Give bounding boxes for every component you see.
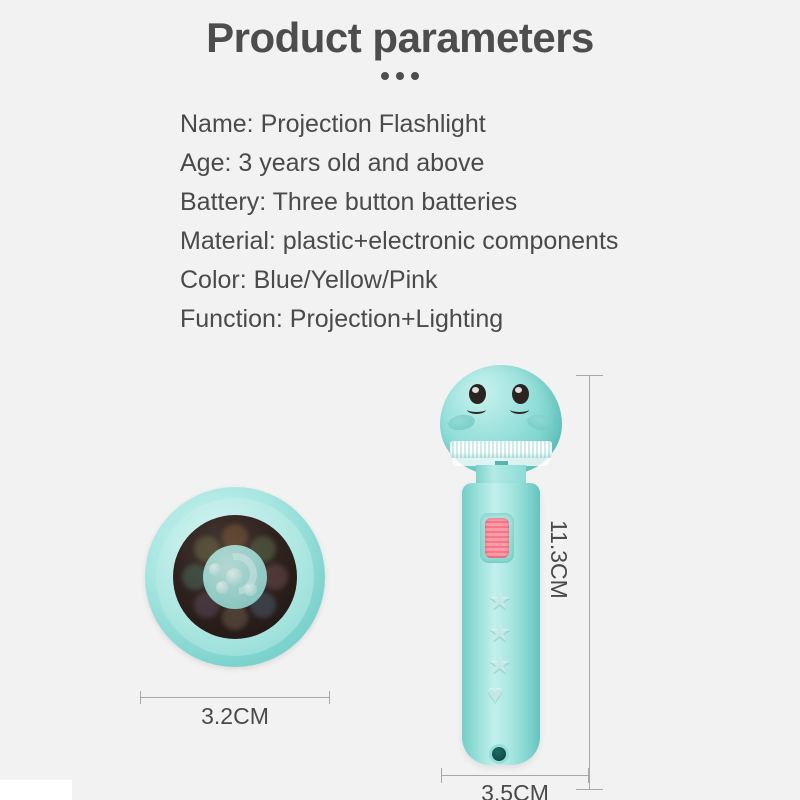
- disc-width-label: 3.2CM: [140, 703, 330, 730]
- eye-left-icon: [469, 384, 486, 404]
- eyelash-right-icon: [510, 405, 529, 414]
- dimension-cap: [576, 375, 603, 376]
- eyelash-left-icon: [467, 405, 486, 414]
- spec-item-function: Function: Projection+Lighting: [180, 300, 740, 339]
- hub-bump: [226, 568, 243, 585]
- product-parameters-page: Product parameters Name: Projection Flas…: [0, 0, 800, 800]
- title-dots-decoration: [0, 72, 800, 80]
- decoration-dot: [381, 72, 389, 80]
- power-switch-button[interactable]: [485, 518, 509, 558]
- star-emboss-icon: ★: [488, 587, 511, 613]
- disc-width-dimension-line: [140, 697, 330, 698]
- cheek-right: [526, 413, 555, 432]
- eye-right-icon: [512, 384, 529, 404]
- page-title: Product parameters: [0, 14, 800, 62]
- hub-bump: [216, 581, 229, 594]
- spec-item-battery: Battery: Three button batteries: [180, 183, 740, 222]
- spec-item-material: Material: plastic+electronic components: [180, 222, 740, 261]
- flashlight-width-dimension-line: [441, 775, 589, 776]
- lens-ridged-band: [450, 441, 552, 458]
- lanyard-hole: [492, 747, 506, 761]
- projection-slide-disc-image: [145, 487, 325, 667]
- spec-item-color: Color: Blue/Yellow/Pink: [180, 261, 740, 300]
- bottom-left-white-block: [0, 780, 72, 800]
- spec-item-age: Age: 3 years old and above: [180, 144, 740, 183]
- hub-bump: [244, 583, 257, 596]
- decoration-dot: [411, 72, 419, 80]
- flashlight-height-dimension-line: [589, 375, 590, 790]
- decoration-dot: [396, 72, 404, 80]
- disc-center-hub: [203, 545, 267, 609]
- cheek-left: [447, 413, 476, 432]
- spec-item-name: Name: Projection Flashlight: [180, 105, 740, 144]
- specification-list: Name: Projection Flashlight Age: 3 years…: [180, 105, 740, 339]
- flashlight-height-label: 11.3CM: [545, 520, 572, 599]
- star-emboss-icon: ★: [488, 619, 511, 645]
- star-emboss-icon: ★: [488, 651, 511, 677]
- flashlight-width-label: 3.5CM: [441, 780, 589, 800]
- heart-emboss-icon: ♥: [487, 681, 503, 708]
- hub-bump: [209, 563, 222, 576]
